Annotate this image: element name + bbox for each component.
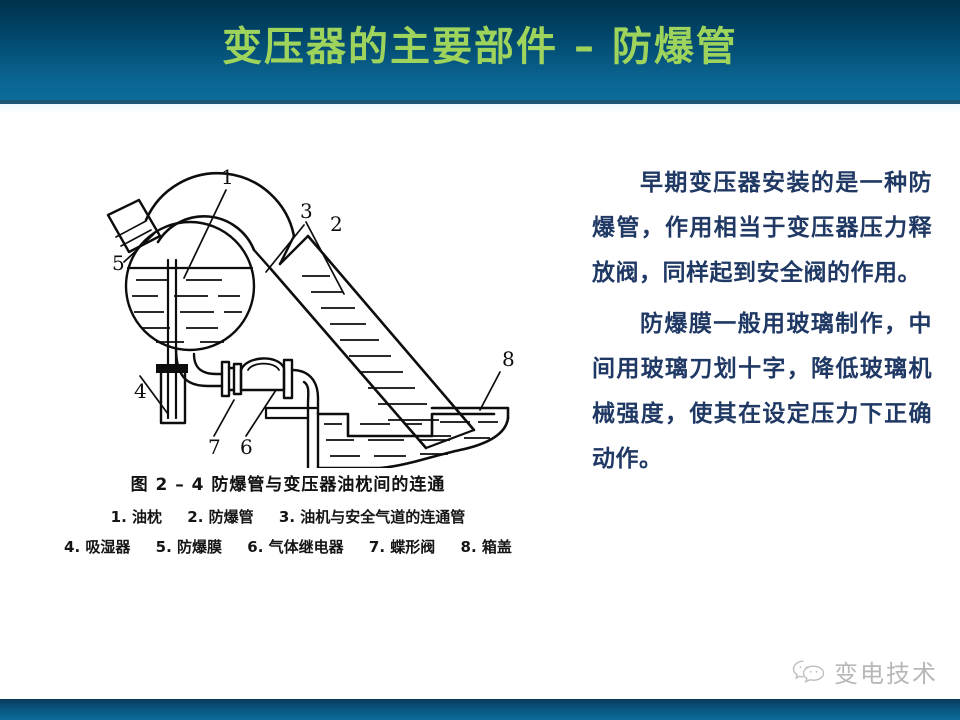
relay-to-tank-pipe-inner [304,382,308,468]
slide-canvas: 变压器的主要部件 – 防爆管 [0,0,960,720]
legend-item: 1. 油枕 [111,502,162,532]
page-title: 变压器的主要部件 – 防爆管 [0,16,960,78]
leader-3 [266,225,304,272]
leader-8 [480,372,500,410]
header-underglow [0,104,960,114]
legend-label: 箱盖 [482,538,512,556]
callout-7: 7 [208,435,221,459]
callout-4: 4 [134,379,147,403]
tank-outer-wall [318,418,508,468]
explosion-vent-diagram: 1 2 3 4 5 6 7 8 [8,118,568,468]
watermark: 变电技术 [792,654,938,689]
legend-item: 2. 防爆管 [187,502,253,532]
conservator-downpipe-inner [194,354,222,374]
legend-label: 吸湿器 [85,538,130,556]
callout-8: 8 [502,347,515,371]
legend-number: 8. [461,538,477,556]
legend-item: 8. 箱盖 [461,532,512,562]
vent-tube-right-wall [308,236,474,430]
legend-number: 3. [279,508,295,526]
legend-label: 防爆膜 [177,538,222,556]
leader-7 [214,400,234,436]
footer-band [0,699,960,720]
legend-number: 7. [369,538,385,556]
legend-label: 油机与安全气道的连通管 [300,508,465,526]
figure-block: 1 2 3 4 5 6 7 8 图 2 – 4 防爆管与变压器油枕间的连通 1.… [8,118,568,570]
legend-number: 2. [187,508,203,526]
leader-5 [124,234,154,262]
legend-number: 4. [64,538,80,556]
paragraph-2: 防爆膜一般用玻璃制作，中间用玻璃刀划十字，降低玻璃机械强度，使其在设定压力下正确… [592,301,932,481]
leader-1 [184,190,226,278]
vent-tube-oil-hatching [302,276,451,436]
conservator-oil-hatching [132,280,242,342]
gas-relay [241,358,292,398]
legend-number: 5. [156,538,172,556]
figure-caption: 图 2 – 4 防爆管与变压器油枕间的连通 [8,470,568,495]
legend-row-2: 4. 吸湿器 5. 防爆膜 6. 气体继电器 7. 蝶形阀 8. 箱盖 [8,532,568,562]
callout-leaders [124,190,500,436]
breather-collar [156,364,188,373]
legend-label: 油枕 [132,508,162,526]
callout-1: 1 [221,165,234,189]
legend-number: 6. [247,538,263,556]
legend-item: 5. 防爆膜 [156,532,222,562]
legend-item: 7. 蝶形阀 [369,532,435,562]
legend-item: 4. 吸湿器 [64,532,130,562]
legend-label: 气体继电器 [269,538,344,556]
callout-6: 6 [240,435,253,459]
body-text-block: 早期变压器安装的是一种防爆管，作用相当于变压器压力释放阀，同样起到安全阀的作用。… [592,160,932,487]
legend-row-1: 1. 油枕 2. 防爆管 3. 油机与安全气道的连通管 [8,502,568,532]
safety-duct-joint-left [254,250,270,268]
callout-2: 2 [330,212,343,236]
legend-label: 防爆管 [209,508,254,526]
butterfly-valve [222,362,241,396]
wechat-icon [792,658,826,686]
legend-item: 6. 气体继电器 [247,532,343,562]
legend-label: 蝶形阀 [390,538,435,556]
legend-item: 3. 油机与安全气道的连通管 [279,502,465,532]
callout-5: 5 [112,251,125,275]
paragraph-1: 早期变压器安装的是一种防爆管，作用相当于变压器压力释放阀，同样起到安全阀的作用。 [592,160,932,295]
callout-3: 3 [300,199,313,223]
figure-legend: 1. 油枕 2. 防爆管 3. 油机与安全气道的连通管 4. 吸湿器 5. 防爆… [8,502,568,562]
dehydrator-canister [161,373,185,423]
legend-number: 1. [111,508,127,526]
leader-6 [246,390,276,436]
watermark-text: 变电技术 [834,654,938,689]
